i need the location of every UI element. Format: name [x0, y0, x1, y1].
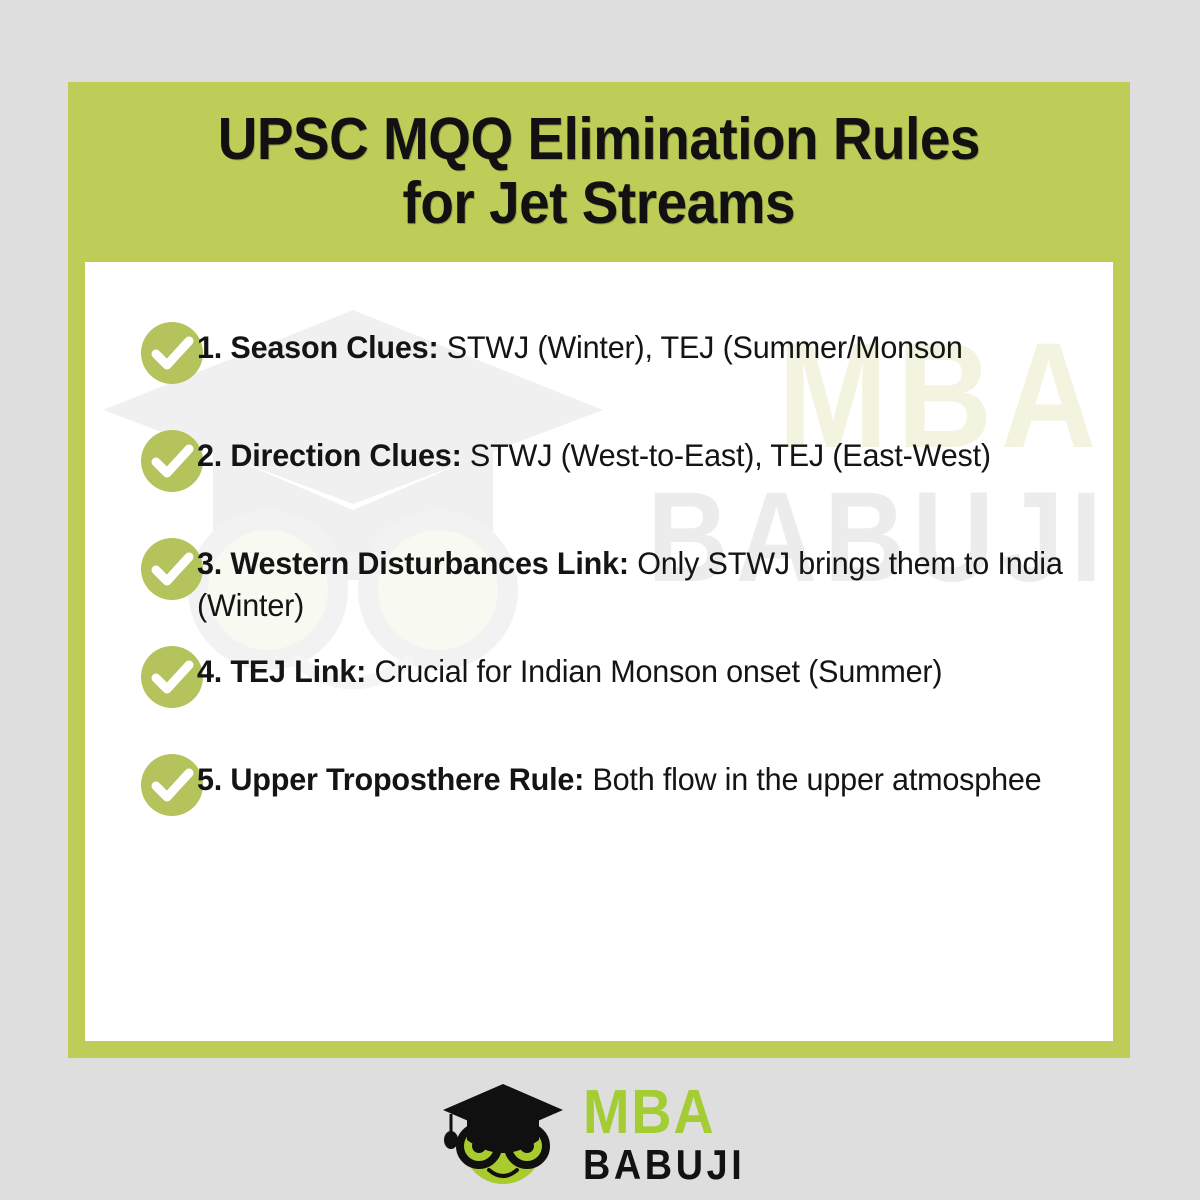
rule-number: 1.: [197, 329, 222, 365]
rule-number: 2.: [197, 437, 222, 473]
poster-card: UPSC MQQ Elimination Rules for Jet Strea…: [68, 82, 1130, 1058]
rule-number: 5.: [197, 761, 222, 797]
rule-lead: TEJ Link:: [222, 653, 366, 689]
rule-text: 4. TEJ Link: Crucial for Indian Monson o…: [197, 642, 1076, 693]
poster-body: MBA BABUJI 1. Season Clues: STWJ (Winter…: [85, 262, 1113, 1041]
rule-text: 1. Season Clues: STWJ (Winter), TEJ (Sum…: [197, 318, 1076, 369]
rule-text: 5. Upper Troposthere Rule: Both flow in …: [197, 750, 1076, 801]
rule-number: 3.: [197, 545, 222, 581]
rule-rest: STWJ (West-to-East), TEJ (East-West): [462, 437, 991, 473]
footer-wordmark: MBA BABUJI: [583, 1084, 763, 1184]
rule-lead: Season Clues:: [222, 329, 438, 365]
rules-list: 1. Season Clues: STWJ (Winter), TEJ (Sum…: [85, 262, 1113, 858]
rule-item-5: 5. Upper Troposthere Rule: Both flow in …: [141, 750, 1103, 858]
rule-item-3: 3. Western Disturbances Link: Only STWJ …: [141, 534, 1103, 642]
check-circle-icon: [141, 322, 203, 384]
rule-lead: Western Disturbances Link:: [222, 545, 629, 581]
check-circle-icon: [141, 430, 203, 492]
graduation-cap-face-icon: [437, 1078, 565, 1190]
check-circle-icon: [141, 754, 203, 816]
footer-logo: MBA BABUJI: [0, 1068, 1200, 1200]
rule-text: 3. Western Disturbances Link: Only STWJ …: [197, 534, 1076, 627]
rule-lead: Direction Clues:: [222, 437, 461, 473]
rule-item-2: 2. Direction Clues: STWJ (West-to-East),…: [141, 426, 1103, 534]
rule-item-1: 1. Season Clues: STWJ (Winter), TEJ (Sum…: [141, 318, 1103, 426]
check-circle-icon: [141, 646, 203, 708]
rule-item-4: 4. TEJ Link: Crucial for Indian Monson o…: [141, 642, 1103, 750]
rule-rest: Both flow in the upper atmosphee: [584, 761, 1041, 797]
rule-lead: Upper Troposthere Rule:: [222, 761, 584, 797]
poster-header-band: UPSC MQQ Elimination Rules for Jet Strea…: [85, 82, 1113, 262]
rule-text: 2. Direction Clues: STWJ (West-to-East),…: [197, 426, 1076, 477]
footer-mba-text: MBA: [583, 1086, 745, 1141]
rule-rest: Crucial for Indian Monson onset (Summer): [366, 653, 942, 689]
page-title: UPSC MQQ Elimination Rules for Jet Strea…: [218, 108, 980, 235]
rule-rest: STWJ (Winter), TEJ (Summer/Monson: [438, 329, 962, 365]
rule-number: 4.: [197, 653, 222, 689]
check-circle-icon: [141, 538, 203, 600]
footer-babuji-text: BABUJI: [583, 1147, 745, 1184]
